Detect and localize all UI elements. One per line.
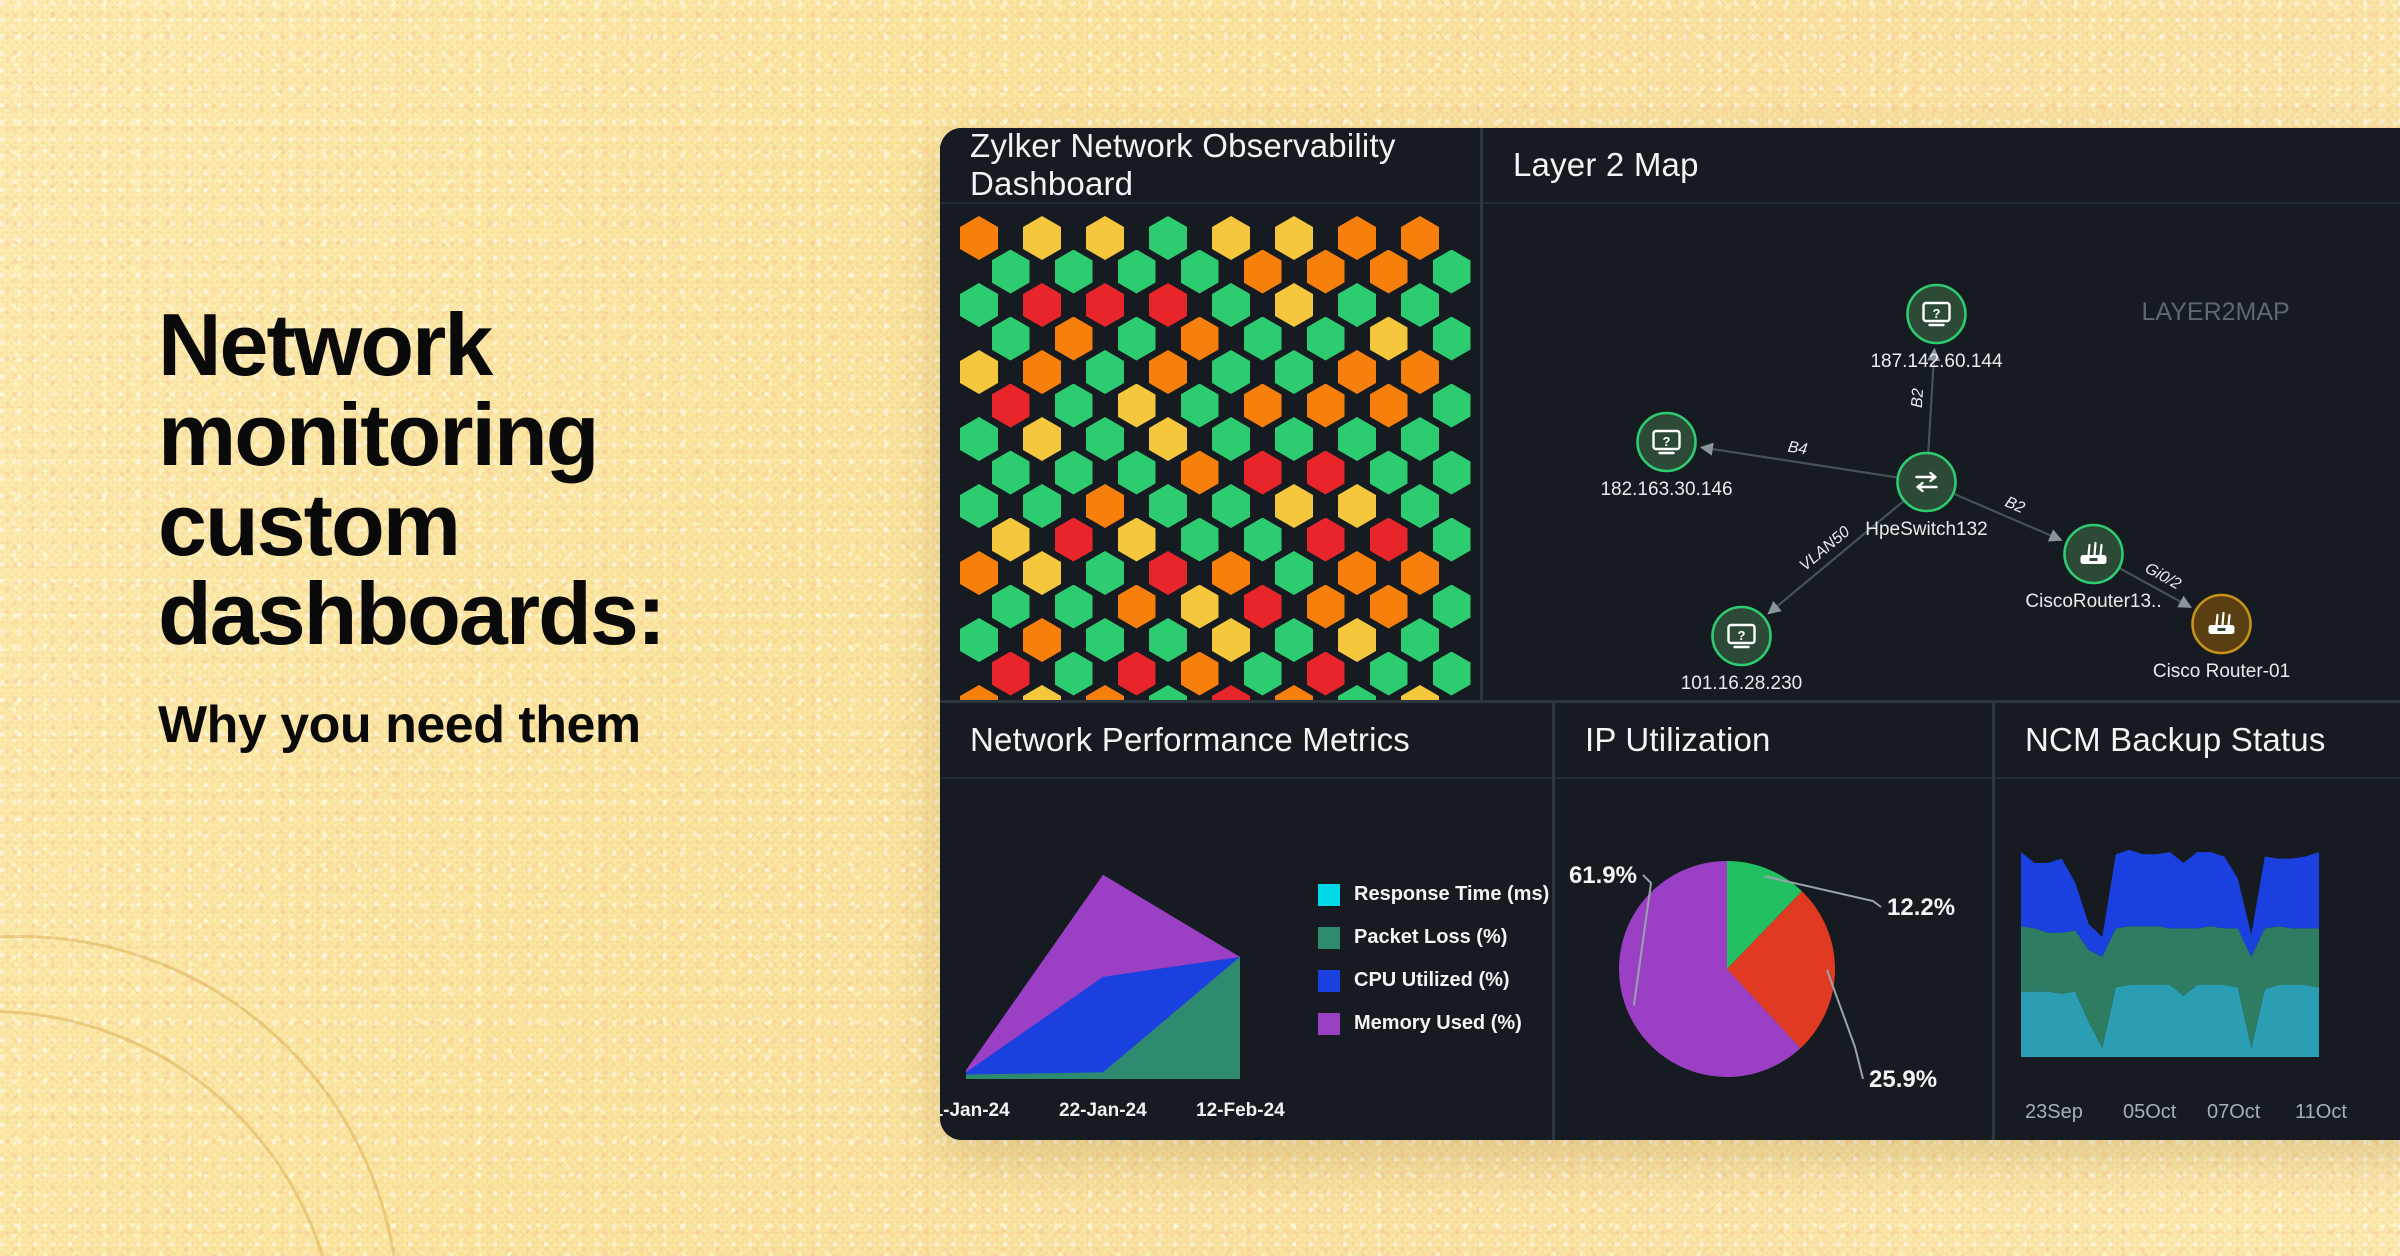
heatmap-hex-cell[interactable]	[1023, 484, 1061, 528]
panel-title-ncm-backup: NCM Backup Status	[2025, 721, 2326, 759]
heatmap-hex-cell[interactable]	[960, 685, 998, 700]
heatmap-hex-cell[interactable]	[1149, 484, 1187, 528]
legend-swatch	[1318, 970, 1340, 992]
heatmap-hex-cell[interactable]	[1212, 484, 1250, 528]
legend-label: Memory Used (%)	[1354, 1012, 1522, 1035]
heatmap-hex-cell[interactable]	[1086, 618, 1124, 662]
heatmap-hex-cell[interactable]	[1244, 585, 1282, 629]
heatmap-hex-cell[interactable]	[1338, 283, 1376, 327]
heatmap-hex-cell[interactable]	[1370, 317, 1408, 361]
panel-body-heatmap	[940, 204, 1480, 700]
panel-title-ip-utilization: IP Utilization	[1585, 721, 1771, 759]
chart-legend-network-performance: Response Time (ms)Packet Loss (%)CPU Uti…	[1318, 883, 1549, 1055]
heatmap-hex-cell[interactable]	[1212, 216, 1250, 260]
panel-title-observability: Zylker Network Observability Dashboard	[970, 128, 1480, 203]
heatmap-hex-cell[interactable]	[1401, 283, 1439, 327]
heatmap-hex-cell[interactable]	[1370, 518, 1408, 562]
layer2-node-label: HpeSwitch132	[1865, 519, 1988, 540]
heatmap-hex-cell[interactable]	[1433, 451, 1471, 495]
x-axis-tick: 22-Jan-24	[1059, 1100, 1147, 1122]
legend-item[interactable]: Memory Used (%)	[1318, 1012, 1549, 1035]
heatmap-hex-cell[interactable]	[1149, 417, 1187, 461]
heatmap-hex-cell[interactable]	[960, 484, 998, 528]
layer2-link[interactable]	[1768, 501, 1904, 614]
ncm-area-series-1	[2021, 985, 2319, 1057]
legend-item[interactable]: CPU Utilized (%)	[1318, 969, 1549, 992]
heatmap-hex-cell[interactable]	[960, 350, 998, 394]
heatmap-hex-cell[interactable]	[1023, 551, 1061, 595]
heatmap-hex-cell[interactable]	[1149, 618, 1187, 662]
heatmap-hex-cell[interactable]	[1086, 216, 1124, 260]
heatmap-hex-cell[interactable]	[1307, 317, 1345, 361]
heatmap-hex-cell[interactable]	[1401, 484, 1439, 528]
x-axis-tick: 01-Jan-24	[940, 1100, 1010, 1122]
layer2-link-label: B2	[1909, 388, 1927, 409]
panel-header: NCM Backup Status	[1995, 703, 2400, 779]
panel-layer2-map[interactable]: Layer 2 Map LAYER2MAPB2B4VLAN50B2Gi0/2?1…	[1480, 128, 2400, 700]
heatmap-hex-cell[interactable]	[1023, 685, 1061, 700]
heatmap-hex-cell[interactable]	[960, 283, 998, 327]
heatmap-hex-cell[interactable]	[1149, 283, 1187, 327]
panel-network-performance[interactable]: Network Performance Metrics 01-Jan-2422-…	[940, 703, 1552, 1140]
heatmap-hex-cell[interactable]	[992, 451, 1030, 495]
heatmap-hex-cell[interactable]	[1118, 518, 1156, 562]
layer2map-watermark: LAYER2MAP	[2142, 298, 2290, 326]
heatmap-hex-cell[interactable]	[1275, 551, 1313, 595]
panel-header: Layer 2 Map	[1483, 128, 2400, 204]
legend-label: CPU Utilized (%)	[1354, 969, 1510, 992]
heatmap-hex-cell[interactable]	[1212, 283, 1250, 327]
headline-block: Network monitoring custom dashboards: Wh…	[158, 300, 918, 755]
heatmap-hex-cell[interactable]	[1433, 585, 1471, 629]
svg-text:?: ?	[1738, 628, 1746, 643]
heatmap-hex-cell[interactable]	[1370, 652, 1408, 696]
heatmap-hex-cell[interactable]	[1307, 518, 1345, 562]
heatmap-hex-cell[interactable]	[1244, 652, 1282, 696]
heatmap-hex-cell[interactable]	[1055, 384, 1093, 428]
heatmap-hex-cell[interactable]	[1149, 350, 1187, 394]
heatmap-hex-cell[interactable]	[1181, 317, 1219, 361]
area-chart-network-performance[interactable]: 01-Jan-2422-Jan-2412-Feb-24	[940, 779, 1300, 1140]
heatmap-hex-cell[interactable]	[1338, 484, 1376, 528]
panel-header: IP Utilization	[1555, 703, 1992, 779]
heatmap-hex-cell[interactable]	[1370, 585, 1408, 629]
heatmap-hex-cell[interactable]	[1086, 551, 1124, 595]
heatmap-hex-cell[interactable]	[1181, 451, 1219, 495]
panel-title-layer2map: Layer 2 Map	[1513, 146, 1699, 184]
heatmap-hex-cell[interactable]	[1023, 283, 1061, 327]
panel-zylker-observability[interactable]: Zylker Network Observability Dashboard	[940, 128, 1480, 700]
heatmap-hex-cell[interactable]	[960, 216, 998, 260]
heatmap-hex-cell[interactable]	[1212, 551, 1250, 595]
heatmap-hex-cell[interactable]	[1338, 216, 1376, 260]
heatmap-hex-cell[interactable]	[1181, 585, 1219, 629]
heatmap-hex-cell[interactable]	[1433, 652, 1471, 696]
heatmap-hex-cell[interactable]	[1275, 283, 1313, 327]
heatmap-hex-cell[interactable]	[1275, 685, 1313, 700]
x-axis-tick: 11Oct	[2295, 1101, 2347, 1124]
heatmap-hex-cell[interactable]	[1307, 585, 1345, 629]
legend-item[interactable]: Packet Loss (%)	[1318, 926, 1549, 949]
heatmap-hex-cell[interactable]	[1401, 618, 1439, 662]
heatmap-hex-cell[interactable]	[1086, 484, 1124, 528]
heatmap-hex-cell[interactable]	[1086, 350, 1124, 394]
layer2-node[interactable]: Cisco Router-01	[2153, 595, 2290, 682]
dashboard-row-top: Zylker Network Observability Dashboard L…	[940, 128, 2400, 700]
heatmap-hex-cell[interactable]	[1275, 350, 1313, 394]
layer2-link-label: B2	[2002, 494, 2027, 517]
heatmap-hex-cell[interactable]	[1149, 551, 1187, 595]
heatmap-hex-cell[interactable]	[1055, 518, 1093, 562]
heatmap-hex-cell[interactable]	[1433, 317, 1471, 361]
layer2-node-label: Cisco Router-01	[2153, 661, 2290, 682]
heatmap-hex-cell[interactable]	[1275, 484, 1313, 528]
heatmap-hex-cell[interactable]	[1370, 451, 1408, 495]
heatmap-hex-cell[interactable]	[1055, 585, 1093, 629]
heatmap-hex-cell[interactable]	[1181, 384, 1219, 428]
svg-text:?: ?	[1663, 434, 1671, 449]
heatmap-hex-cell[interactable]	[1181, 250, 1219, 294]
heatmap-hex-cell[interactable]	[1401, 350, 1439, 394]
heatmap-hex-cell[interactable]	[1275, 216, 1313, 260]
heatmap-hex-cell[interactable]	[1118, 250, 1156, 294]
panel-header: Network Performance Metrics	[940, 703, 1552, 779]
heatmap-hex-cell[interactable]	[1244, 451, 1282, 495]
heatmap-hex-cell[interactable]	[1118, 585, 1156, 629]
heatmap-hex-cell[interactable]	[1401, 417, 1439, 461]
heatmap-hex-cell[interactable]	[1244, 518, 1282, 562]
heatmap-hex-cell[interactable]	[1023, 350, 1061, 394]
heatmap-hex-cell[interactable]	[1212, 417, 1250, 461]
heatmap-hex-cell[interactable]	[1401, 551, 1439, 595]
pie-slice-label: 25.9%	[1869, 1066, 1937, 1093]
legend-swatch	[1318, 927, 1340, 949]
layer2-link-label: Gi0/2	[2142, 560, 2184, 593]
dashboard-window: Zylker Network Observability Dashboard L…	[940, 128, 2400, 1140]
panel-title-network-performance: Network Performance Metrics	[970, 721, 1410, 759]
page-title: Network monitoring custom dashboards:	[158, 300, 918, 659]
layer2-node[interactable]: ?182.163.30.146	[1600, 413, 1732, 500]
pie-slice-label: 61.9%	[1569, 862, 1637, 889]
panel-body-layer2: LAYER2MAPB2B4VLAN50B2Gi0/2?187.142.60.14…	[1483, 204, 2400, 700]
panel-body-ncm-backup: 23Sep05Oct07Oct11Oct	[1995, 779, 2400, 1140]
x-axis-tick: 12-Feb-24	[1196, 1100, 1285, 1122]
heatmap-hex-cell[interactable]	[1181, 518, 1219, 562]
x-axis-tick: 23Sep	[2025, 1101, 2083, 1124]
heatmap-hex-cell[interactable]	[1244, 384, 1282, 428]
heatmap-hex-cell[interactable]	[992, 384, 1030, 428]
heatmap-hex-cell[interactable]	[1244, 250, 1282, 294]
heatmap-hex-cell[interactable]	[1086, 685, 1124, 700]
heatmap-hex-cell[interactable]	[1401, 685, 1439, 700]
heatmap-hex-cell[interactable]	[1023, 216, 1061, 260]
heatmap-hex-cell[interactable]	[1307, 250, 1345, 294]
heatmap-hex-cell[interactable]	[1181, 652, 1219, 696]
heatmap-hex-cell[interactable]	[1370, 384, 1408, 428]
panel-body-network-performance: 01-Jan-2422-Jan-2412-Feb-24 Response Tim…	[940, 779, 1552, 1140]
heatmap-hex-cell[interactable]	[1338, 685, 1376, 700]
heatmap-hex-cell[interactable]	[1370, 250, 1408, 294]
heatmap-hex-cell[interactable]	[1401, 216, 1439, 260]
heatmap-hex-cell[interactable]	[1433, 518, 1471, 562]
layer2-node-label: 101.16.28.230	[1681, 673, 1803, 694]
panel-body-ip-utilization: 12.2%25.9%61.9%	[1555, 779, 1992, 1140]
heatmap-hex-cell[interactable]	[1275, 618, 1313, 662]
panel-ncm-backup-status[interactable]: NCM Backup Status 23Sep05Oct07Oct11Oct	[1992, 703, 2400, 1140]
heatmap-hex-cell[interactable]	[1086, 417, 1124, 461]
layer2-node[interactable]: CiscoRouter13..	[2025, 525, 2161, 612]
heatmap-hex-cell[interactable]	[1338, 551, 1376, 595]
heatmap-hex-cell[interactable]	[1212, 618, 1250, 662]
heatmap-hex-cell[interactable]	[1118, 317, 1156, 361]
heatmap-hex-cell[interactable]	[960, 551, 998, 595]
svg-text:?: ?	[1933, 306, 1941, 321]
heatmap-hex-cell[interactable]	[1055, 250, 1093, 294]
x-axis-tick: 07Oct	[2207, 1101, 2260, 1124]
heatmap-hex-cell[interactable]	[1149, 216, 1187, 260]
heatmap-hex-cell[interactable]	[1086, 283, 1124, 327]
heatmap-hex-cell[interactable]	[1212, 350, 1250, 394]
layer2-node-label: 182.163.30.146	[1600, 479, 1732, 500]
heatmap-hex-cell[interactable]	[1433, 384, 1471, 428]
heatmap-hex-cell[interactable]	[992, 250, 1030, 294]
legend-item[interactable]: Response Time (ms)	[1318, 883, 1549, 906]
heatmap-hex-cell[interactable]	[1212, 685, 1250, 700]
layer2-topology-graph[interactable]: LAYER2MAPB2B4VLAN50B2Gi0/2?187.142.60.14…	[1483, 204, 2400, 700]
heatmap-hex-cell[interactable]	[1118, 451, 1156, 495]
heatmap-hex-cell[interactable]	[992, 518, 1030, 562]
panel-ip-utilization[interactable]: IP Utilization 12.2%25.9%61.9%	[1552, 703, 1992, 1140]
page-subtitle: Why you need them	[158, 695, 918, 755]
heatmap-hex-cell[interactable]	[1338, 417, 1376, 461]
heatmap-hex-cell[interactable]	[992, 652, 1030, 696]
pie-leader-line	[1827, 970, 1863, 1079]
dashboard-row-bottom: Network Performance Metrics 01-Jan-2422-…	[940, 700, 2400, 1140]
layer2-node[interactable]: HpeSwitch132	[1865, 453, 1988, 540]
layer2-node[interactable]: ?187.142.60.144	[1870, 285, 2003, 372]
heatmap-hex-cell[interactable]	[960, 618, 998, 662]
heatmap-hex-cell[interactable]	[1149, 685, 1187, 700]
heatmap-hex-cell[interactable]	[1338, 618, 1376, 662]
heatmap-hex-cell[interactable]	[1307, 451, 1345, 495]
heatmap-hex-cell[interactable]	[1055, 317, 1093, 361]
heatmap-hex-cell[interactable]	[1244, 317, 1282, 361]
heatmap-hex-cell[interactable]	[1307, 652, 1345, 696]
heatmap-hex-cell[interactable]	[1307, 384, 1345, 428]
x-axis-tick: 05Oct	[2123, 1101, 2176, 1124]
layer2-node-label: 187.142.60.144	[1870, 351, 2003, 372]
heatmap-hex-cell[interactable]	[960, 417, 998, 461]
heatmap-hex-cell[interactable]	[1433, 250, 1471, 294]
heatmap-hex-cell[interactable]	[992, 585, 1030, 629]
legend-swatch	[1318, 884, 1340, 906]
heatmap-hex-cell[interactable]	[1118, 652, 1156, 696]
heatmap-hex-cell[interactable]	[1118, 384, 1156, 428]
pie-slice-label: 12.2%	[1887, 894, 1955, 921]
legend-swatch	[1318, 1013, 1340, 1035]
layer2-link-label: B4	[1787, 439, 1809, 459]
heatmap-hex-cell[interactable]	[1055, 652, 1093, 696]
heatmap-hex-cell[interactable]	[992, 317, 1030, 361]
heatmap-hex-cell[interactable]	[1338, 350, 1376, 394]
layer2-node-label: CiscoRouter13..	[2025, 591, 2161, 612]
pie-chart-ip-utilization[interactable]: 12.2%25.9%61.9%	[1555, 779, 1992, 1140]
heatmap-hex-cell[interactable]	[1023, 618, 1061, 662]
panel-header: Zylker Network Observability Dashboard	[940, 128, 1480, 204]
heatmap-hex-cell[interactable]	[1023, 417, 1061, 461]
legend-label: Response Time (ms)	[1354, 883, 1549, 906]
legend-label: Packet Loss (%)	[1354, 926, 1507, 949]
stacked-area-chart-ncm[interactable]: 23Sep05Oct07Oct11Oct	[1995, 779, 2400, 1140]
heatmap-hex-cell[interactable]	[1275, 417, 1313, 461]
heatmap-hex-cell[interactable]	[1055, 451, 1093, 495]
layer2-node[interactable]: ?101.16.28.230	[1681, 607, 1803, 694]
